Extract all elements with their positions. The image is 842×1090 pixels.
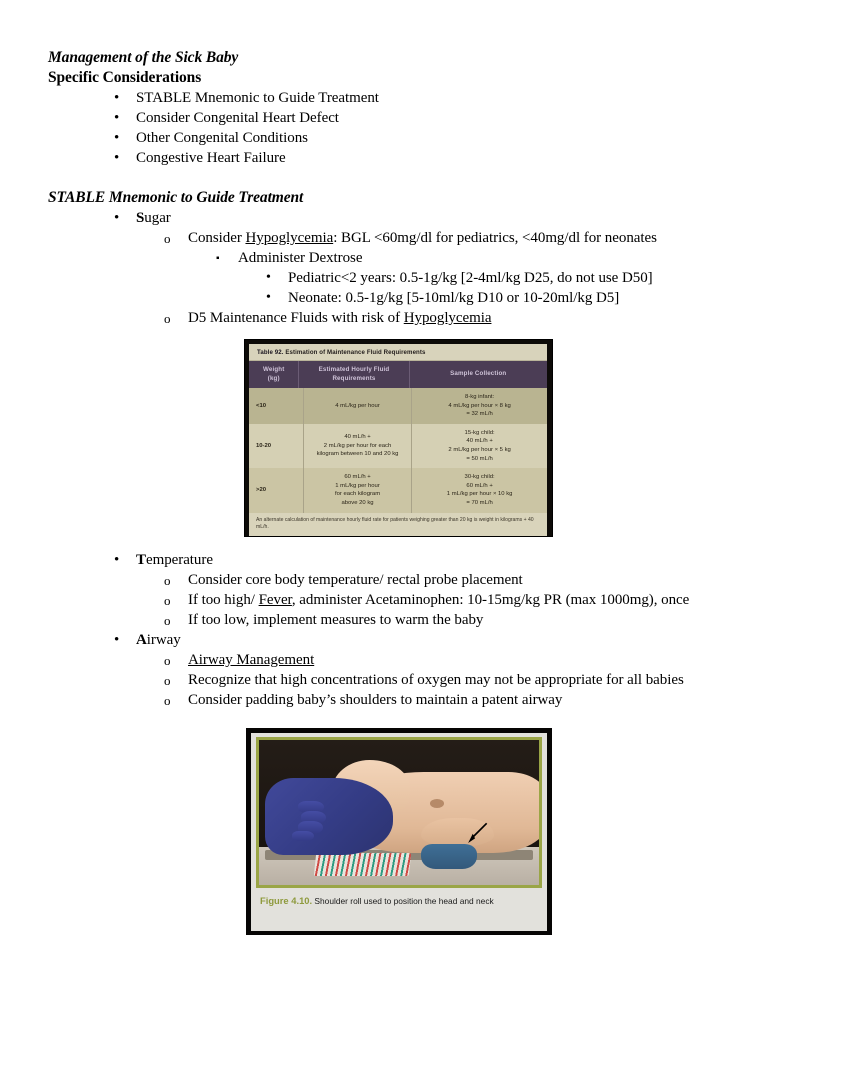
mnemonic-letter-t: T bbox=[136, 552, 146, 568]
airway-oxygen: o Recognize that high concentrations of … bbox=[48, 670, 782, 690]
cell-line: for each kilogram bbox=[335, 490, 380, 499]
table-row: <10 4 mL/kg per hour 8-kg infant: 4 mL/k… bbox=[249, 388, 547, 424]
cell-weight: <10 bbox=[249, 388, 304, 424]
column-header-requirements-line1: Estimated Hourly Fluid bbox=[319, 366, 390, 373]
fluid-table-image: Table 92. Estimation of Maintenance Flui… bbox=[245, 340, 552, 536]
list-item: • Other Congenital Conditions bbox=[48, 128, 782, 148]
blue-shoulder-roll bbox=[421, 844, 477, 869]
temperature-fever: o If too high/ Fever, administer Acetami… bbox=[48, 590, 782, 610]
sugar-consider-hypoglycemia: o Consider Hypoglycemia: BGL <60mg/dl fo… bbox=[48, 228, 782, 248]
temperature-core: o Consider core body temperature/ rectal… bbox=[48, 570, 782, 590]
stable-item-temperature: • Temperature bbox=[48, 550, 782, 570]
fluid-table-figure-wrapper: Table 92. Estimation of Maintenance Flui… bbox=[48, 328, 782, 536]
page-subtitle: Specific Considerations bbox=[48, 68, 782, 88]
column-header-requirements: Estimated Hourly Fluid Requirements bbox=[299, 361, 409, 388]
section-heading-stable: STABLE Mnemonic to Guide Treatment bbox=[48, 188, 782, 208]
link-fever[interactable]: Fever bbox=[259, 592, 292, 608]
cell-line: = 70 mL/h bbox=[466, 499, 492, 508]
link-hypoglycemia[interactable]: Hypoglycemia bbox=[404, 310, 492, 326]
pointer-arrow-icon bbox=[455, 821, 500, 844]
column-header-weight: Weight (kg) bbox=[249, 361, 299, 388]
bullet-circle-icon: o bbox=[164, 670, 170, 691]
bullet-circle-icon: o bbox=[164, 690, 170, 711]
administer-dextrose: ▪ Administer Dextrose bbox=[48, 248, 782, 268]
cell-line: 40 mL/h + bbox=[466, 437, 492, 446]
list-item-label: STABLE Mnemonic to Guide Treatment bbox=[136, 90, 379, 106]
airway-padding: o Consider padding baby’s shoulders to m… bbox=[48, 690, 782, 710]
text-suffix: , administer Acetaminophen: 10-15mg/kg P… bbox=[292, 592, 689, 608]
cell-line: above 20 kg bbox=[341, 499, 373, 508]
bullet-circle-icon: o bbox=[164, 228, 170, 249]
dose-label: Neonate: 0.5-1g/kg [5-10ml/kg D10 or 10-… bbox=[288, 290, 619, 306]
column-header-weight-line1: Weight bbox=[263, 366, 284, 373]
sub-item-label: Consider padding baby’s shoulders to mai… bbox=[188, 692, 562, 708]
cell-line: 1 mL/kg per hour × 10 kg bbox=[447, 490, 513, 499]
bullet-disc-icon: • bbox=[114, 208, 119, 228]
column-header-sample: Sample Collection bbox=[410, 361, 547, 388]
airway-management: o Airway Management bbox=[48, 650, 782, 670]
cell-sample: 8-kg infant: 4 mL/kg per hour × 8 kg = 3… bbox=[412, 388, 547, 424]
document-page: Management of the Sick Baby Specific Con… bbox=[0, 0, 842, 1090]
table-header-row: Weight (kg) Estimated Hourly Fluid Requi… bbox=[249, 361, 547, 388]
cell-line: 8-kg infant: bbox=[465, 393, 494, 402]
bullet-circle-icon: o bbox=[164, 570, 170, 591]
table-row: 10-20 40 mL/h + 2 mL/kg per hour for eac… bbox=[249, 424, 547, 468]
bullet-circle-icon: o bbox=[164, 610, 170, 631]
list-item-label: Consider Congenital Heart Defect bbox=[136, 110, 339, 126]
cell-requirement: 40 mL/h + 2 mL/kg per hour for each kilo… bbox=[304, 424, 412, 468]
cell-line: 15-kg child: bbox=[465, 429, 495, 438]
text-suffix: : BGL <60mg/dl for pediatrics, <40mg/dl … bbox=[333, 230, 657, 246]
dose-pediatric: • Pediatric<2 years: 0.5-1g/kg [2-4ml/kg… bbox=[48, 268, 782, 288]
cell-line: 60 mL/h + bbox=[466, 482, 492, 491]
sub-item-label: Administer Dextrose bbox=[238, 250, 362, 266]
bullet-circle-icon: o bbox=[164, 308, 170, 329]
cell-line: = 32 mL/h bbox=[466, 410, 492, 419]
shoulder-roll-photograph bbox=[256, 737, 542, 888]
glove-finger bbox=[292, 831, 314, 842]
figure-number: Figure 4.10. bbox=[260, 895, 312, 906]
sub-item-label: Consider core body temperature/ rectal p… bbox=[188, 572, 523, 588]
cell-line: 40 mL/h + bbox=[344, 433, 370, 442]
link-hypoglycemia[interactable]: Hypoglycemia bbox=[245, 230, 333, 246]
cell-sample: 15-kg child: 40 mL/h + 2 mL/kg per hour … bbox=[412, 424, 547, 468]
cell-weight: >20 bbox=[249, 468, 304, 512]
bullet-disc-icon: • bbox=[114, 108, 119, 128]
maintenance-fluid-table: Table 92. Estimation of Maintenance Flui… bbox=[249, 344, 547, 531]
cell-line: kilogram between 10 and 20 kg bbox=[317, 450, 399, 459]
bullet-disc-icon: • bbox=[114, 128, 119, 148]
figure-card: Figure 4.10. Shoulder roll used to posit… bbox=[251, 733, 547, 931]
cell-line: 4 mL/kg per hour × 8 kg bbox=[448, 402, 510, 411]
photo-figure-wrapper: Figure 4.10. Shoulder roll used to posit… bbox=[48, 710, 782, 935]
table-footnote: An alternate calculation of maintenance … bbox=[249, 513, 547, 536]
text-prefix: Consider bbox=[188, 230, 245, 246]
list-item-label: Congestive Heart Failure bbox=[136, 150, 286, 166]
cell-line: 2 mL/kg per hour for each bbox=[324, 442, 391, 451]
mnemonic-letter-a: A bbox=[136, 632, 147, 648]
list-item: • Consider Congenital Heart Defect bbox=[48, 108, 782, 128]
photo-scene bbox=[259, 740, 539, 885]
stable-item-airway: • Airway bbox=[48, 630, 782, 650]
column-header-sample-line1: Sample Collection bbox=[450, 370, 506, 379]
stable-item-label: ugar bbox=[144, 210, 170, 226]
text-prefix: If too high/ bbox=[188, 592, 259, 608]
table-caption: Table 92. Estimation of Maintenance Flui… bbox=[249, 344, 547, 361]
link-airway-management[interactable]: Airway Management bbox=[188, 652, 314, 668]
cell-line: 60 mL/h + bbox=[344, 473, 370, 482]
bullet-disc-icon: • bbox=[114, 88, 119, 108]
sub-item-label: Recognize that high concentrations of ox… bbox=[188, 672, 684, 688]
temperature-too-low: o If too low, implement measures to warm… bbox=[48, 610, 782, 630]
bullet-disc-icon: • bbox=[266, 288, 271, 308]
bullet-circle-icon: o bbox=[164, 650, 170, 671]
blue-glove-hand bbox=[265, 778, 394, 855]
bullet-disc-icon: • bbox=[114, 148, 119, 168]
cell-line: 2 mL/kg per hour × 5 kg bbox=[448, 446, 510, 455]
stable-item-label: emperature bbox=[146, 552, 213, 568]
cell-sample: 30-kg child: 60 mL/h + 1 mL/kg per hour … bbox=[412, 468, 547, 512]
table-number: Table 92. bbox=[257, 349, 284, 356]
bullet-disc-icon: • bbox=[266, 268, 271, 288]
bullet-disc-icon: • bbox=[114, 550, 119, 570]
list-item: • Congestive Heart Failure bbox=[48, 148, 782, 168]
list-item: • STABLE Mnemonic to Guide Treatment bbox=[48, 88, 782, 108]
page-title: Management of the Sick Baby bbox=[48, 48, 782, 68]
striped-towel bbox=[314, 853, 412, 876]
table-caption-text: Estimation of Maintenance Fluid Requirem… bbox=[284, 349, 426, 356]
figure-caption: Figure 4.10. Shoulder roll used to posit… bbox=[251, 888, 547, 907]
stable-list: • Sugar o Consider Hypoglycemia: BGL <60… bbox=[48, 208, 782, 328]
bullet-square-icon: ▪ bbox=[216, 248, 220, 270]
cell-line: 1 mL/kg per hour bbox=[335, 482, 380, 491]
stable-item-sugar: • Sugar bbox=[48, 208, 782, 228]
cell-weight: 10-20 bbox=[249, 424, 304, 468]
shoulder-roll-figure: Figure 4.10. Shoulder roll used to posit… bbox=[246, 728, 552, 935]
bullet-disc-icon: • bbox=[114, 630, 119, 650]
sub-item-label: If too low, implement measures to warm t… bbox=[188, 612, 483, 628]
dose-label: Pediatric<2 years: 0.5-1g/kg [2-4ml/kg D… bbox=[288, 270, 653, 286]
stable-item-label: irway bbox=[147, 632, 181, 648]
cell-line: 4 mL/kg per hour bbox=[335, 402, 380, 411]
list-item-label: Other Congenital Conditions bbox=[136, 130, 308, 146]
text-prefix: D5 Maintenance Fluids with risk of bbox=[188, 310, 404, 326]
infant-chest-detail bbox=[430, 799, 444, 808]
d5-maintenance-fluids: o D5 Maintenance Fluids with risk of Hyp… bbox=[48, 308, 782, 328]
stable-list-continued: • Temperature o Consider core body tempe… bbox=[48, 550, 782, 710]
column-header-weight-line2: (kg) bbox=[268, 375, 280, 382]
specific-considerations-list: • STABLE Mnemonic to Guide Treatment • C… bbox=[48, 88, 782, 168]
figure-caption-text: Shoulder roll used to position the head … bbox=[312, 896, 494, 906]
cell-line: = 50 mL/h bbox=[466, 455, 492, 464]
cell-line: 30-kg child: bbox=[465, 473, 495, 482]
dose-neonate: • Neonate: 0.5-1g/kg [5-10ml/kg D10 or 1… bbox=[48, 288, 782, 308]
column-header-requirements-line2: Requirements bbox=[332, 375, 375, 382]
bullet-circle-icon: o bbox=[164, 590, 170, 611]
table-row: >20 60 mL/h + 1 mL/kg per hour for each … bbox=[249, 468, 547, 512]
cell-requirement: 60 mL/h + 1 mL/kg per hour for each kilo… bbox=[304, 468, 412, 512]
cell-requirement: 4 mL/kg per hour bbox=[304, 388, 412, 424]
